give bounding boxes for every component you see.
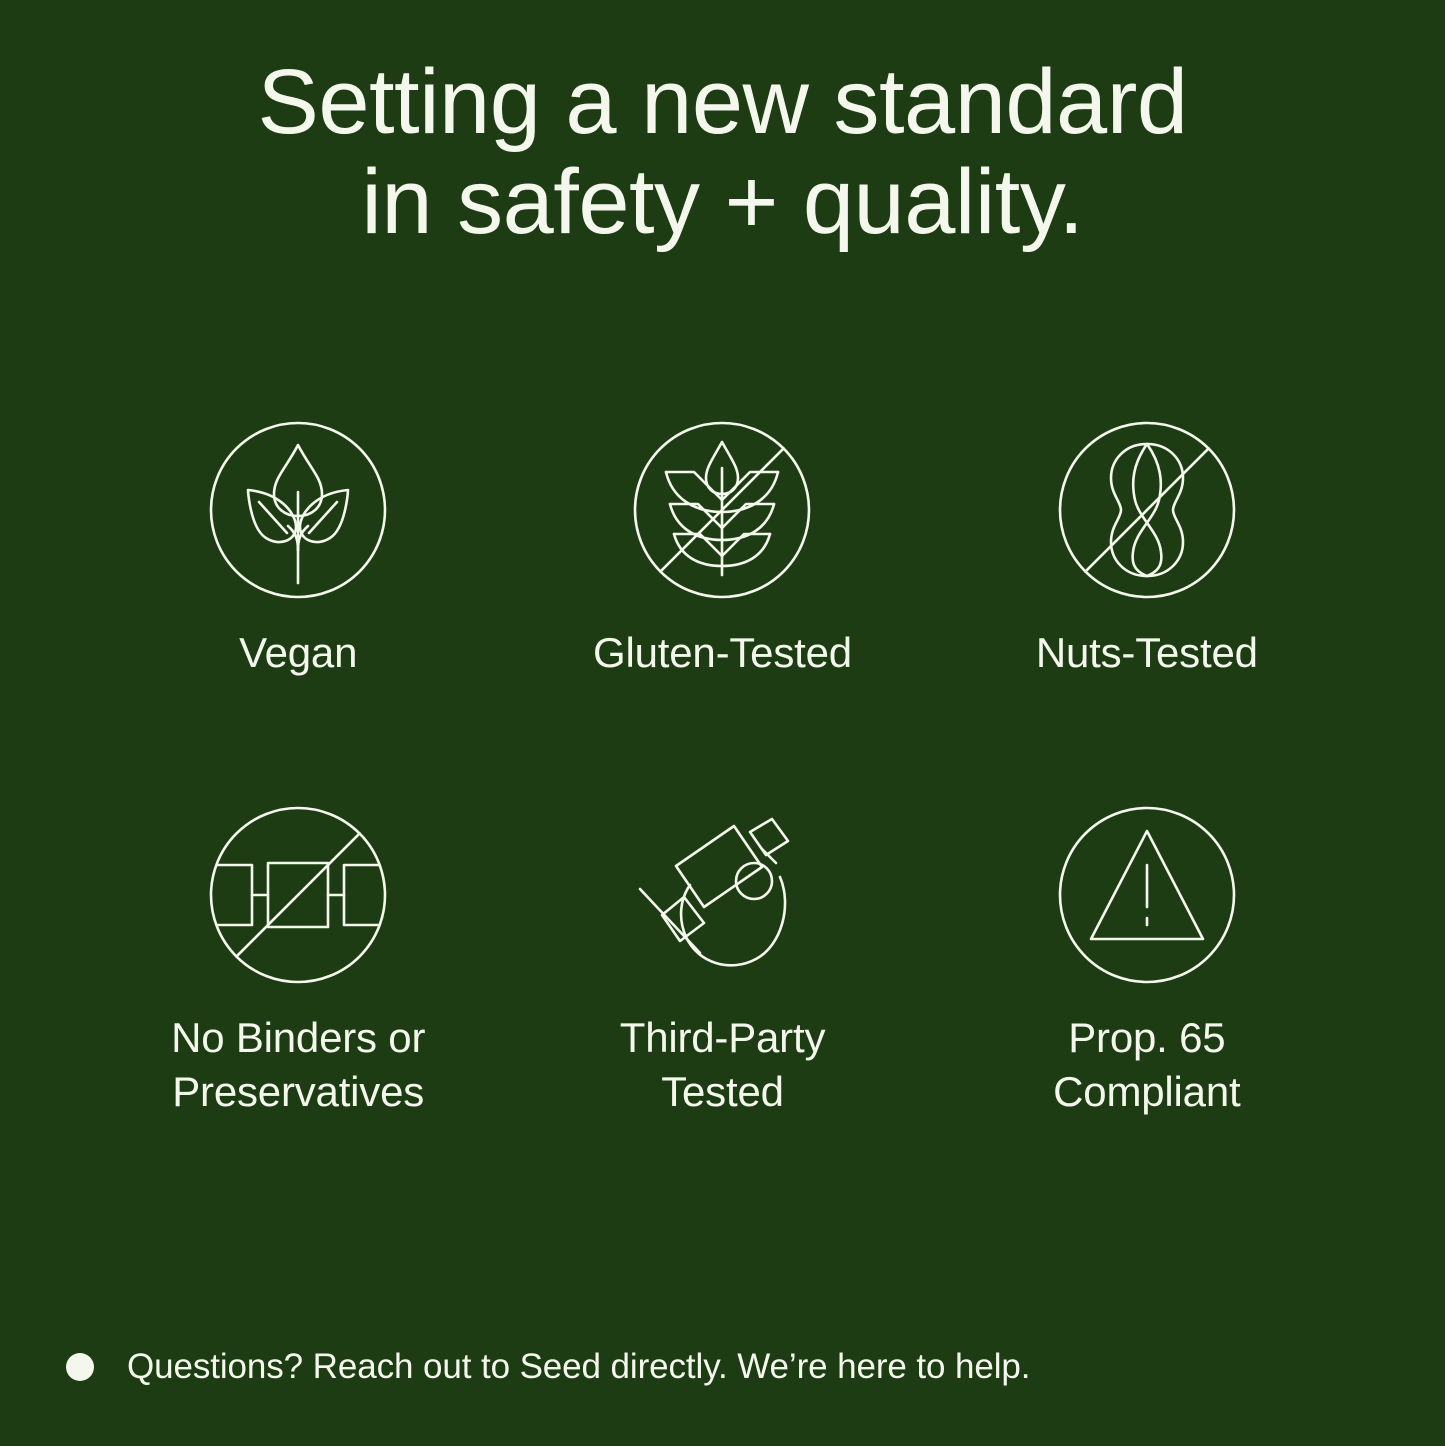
badge-label-gluten-tested: Gluten-Tested: [593, 626, 852, 680]
badge-label-vegan: Vegan: [239, 626, 357, 680]
badge-gluten-tested: Gluten-Tested: [510, 420, 934, 680]
page-title: Setting a new standard in safety + quali…: [0, 52, 1445, 253]
badge-nuts-tested: Nuts-Tested: [935, 420, 1359, 680]
badge-label-no-binders-or-preservatives: No Binders or Preservatives: [171, 1011, 425, 1119]
badge-label-nuts-tested: Nuts-Tested: [1036, 626, 1258, 680]
badge-vegan: Vegan: [86, 420, 510, 680]
page-title-line-1: Setting a new standard: [110, 52, 1335, 152]
certification-badge-grid: Vegan: [86, 420, 1359, 1118]
badge-label-prop-65-compliant: Prop. 65 Compliant: [1053, 1011, 1240, 1119]
footer-help-note: Questions? Reach out to Seed directly. W…: [66, 1346, 1030, 1388]
warning-triangle-in-circle-icon: [1057, 805, 1237, 985]
wheat-stalk-in-circle-icon: [632, 420, 812, 600]
badge-label-third-party-tested: Third-Party Tested: [620, 1011, 826, 1119]
microscope-icon: [632, 805, 812, 985]
filled-dot-icon: [66, 1353, 94, 1381]
molecule-chain-in-circle-icon: [208, 805, 388, 985]
badge-prop-65-compliant: Prop. 65 Compliant: [935, 805, 1359, 1119]
plant-sprout-in-circle-icon: [208, 420, 388, 600]
badge-no-binders-or-preservatives: No Binders or Preservatives: [86, 805, 510, 1119]
peanut-in-circle-icon: [1057, 420, 1237, 600]
marketing-panel: Setting a new standard in safety + quali…: [0, 0, 1445, 1446]
page-title-line-2: in safety + quality.: [110, 152, 1335, 252]
footer-help-text: Questions? Reach out to Seed directly. W…: [127, 1346, 1030, 1388]
badge-third-party-tested: Third-Party Tested: [510, 805, 934, 1119]
